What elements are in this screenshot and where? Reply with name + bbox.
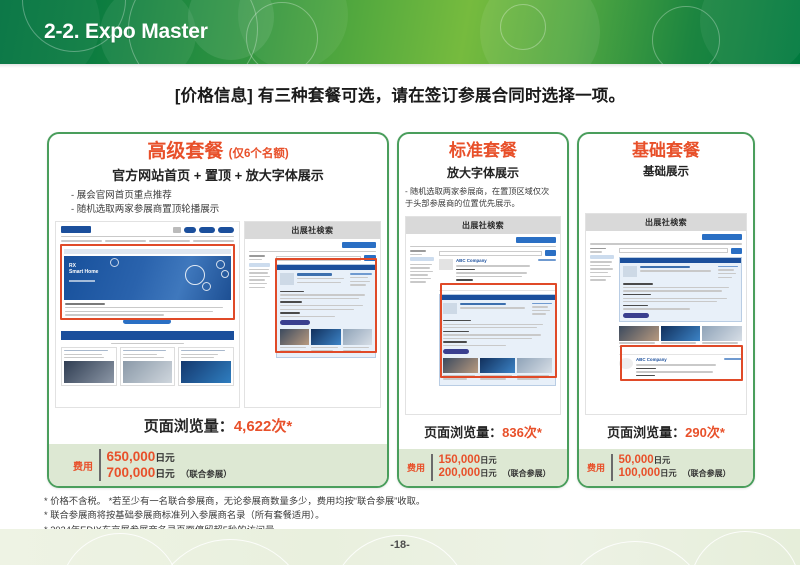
fee-primary-row: 650,000日元 bbox=[107, 449, 232, 465]
package-quantity-note: (仅6个名额) bbox=[229, 148, 289, 160]
header-decor-ring-4 bbox=[500, 4, 546, 50]
fee-divider bbox=[611, 454, 613, 481]
screenshot-group-standard: 出展社検索 bbox=[399, 210, 567, 415]
package-bullet: - 展会官网首页重点推荐 bbox=[71, 189, 387, 203]
screenshot-exhibitor-search-mock[interactable]: 出展社検索 bbox=[244, 221, 381, 408]
fee-bar-premium: 费用 650,000日元 700,000日元 （联合参展） bbox=[49, 444, 387, 486]
footnote-line: * 价格不含税。 *若至少有一名联合参展商，无论参展商数量多少，费用均按“联合参… bbox=[44, 494, 764, 508]
package-card-premium[interactable]: 高级套餐 (仅6个名额) 官方网站首页 + 置顶 + 放大字体展示 - 展会官网… bbox=[47, 132, 389, 488]
fee-joint-note: （联合参展） bbox=[181, 469, 232, 479]
slide-header-band: 2-2. Expo Master bbox=[0, 0, 800, 64]
package-card-basic[interactable]: 基础套餐 基础展示 出展社検索 bbox=[577, 132, 755, 488]
package-title-standard: 标准套餐 bbox=[399, 142, 567, 161]
package-bullets-premium: - 展会官网首页重点推荐 - 随机选取两家参展商置顶轮播展示 bbox=[49, 189, 387, 217]
fee-primary-row: 50,000日元 bbox=[619, 454, 731, 468]
screenshot-group-premium: RX Smart Home bbox=[49, 217, 387, 408]
fee-divider bbox=[431, 454, 433, 481]
mock-header-label: 出展社検索 bbox=[245, 222, 380, 239]
views-row-premium: 页面浏览量：4,622次* bbox=[49, 408, 387, 444]
package-subtitle-standard: 放大字体展示 bbox=[399, 166, 567, 180]
fee-currency: 日元 bbox=[660, 469, 677, 479]
views-value: 4,622次* bbox=[234, 418, 292, 435]
package-title-basic: 基础套餐 bbox=[579, 142, 753, 161]
views-label: 页面浏览量： bbox=[607, 425, 685, 440]
mock-company-name: ABC Company bbox=[456, 259, 535, 263]
mock-header-label: 出展社検索 bbox=[406, 217, 560, 234]
package-subtitle-premium: 官方网站首页 + 置顶 + 放大字体展示 bbox=[49, 168, 387, 184]
mock-company-name: ABC Company bbox=[636, 358, 721, 362]
package-bullet: 于头部参展商的位置优先展示。 bbox=[405, 198, 561, 210]
fee-primary-amount: 50,000 bbox=[619, 454, 654, 466]
fee-bar-basic: 费用 50,000日元 100,000日元 （联合参展） bbox=[579, 449, 753, 486]
screenshot-group-basic: 出展社検索 bbox=[579, 207, 753, 414]
fee-primary-row: 150,000日元 bbox=[439, 454, 551, 468]
package-title-premium: 高级套餐 (仅6个名额) bbox=[49, 142, 387, 163]
package-bullets-standard: - 随机选取两家参展商，在置顶区域仅次 于头部参展商的位置优先展示。 bbox=[399, 186, 567, 210]
fee-secondary-row: 700,000日元 （联合参展） bbox=[107, 465, 232, 481]
views-row-basic: 页面浏览量：290次* bbox=[579, 415, 753, 449]
fee-values: 50,000日元 100,000日元 （联合参展） bbox=[619, 454, 731, 481]
fee-divider bbox=[99, 449, 101, 481]
fee-joint-note: （联合参展） bbox=[503, 469, 551, 478]
views-value: 290次* bbox=[685, 425, 725, 440]
fee-currency: 日元 bbox=[155, 469, 174, 480]
fee-bar-standard: 费用 150,000日元 200,000日元 （联合参展） bbox=[399, 449, 567, 486]
fee-values: 650,000日元 700,000日元 （联合参展） bbox=[107, 449, 232, 481]
views-label: 页面浏览量： bbox=[424, 425, 502, 440]
fee-label: 费用 bbox=[57, 458, 93, 473]
views-value: 836次* bbox=[502, 425, 542, 440]
header-decor-ring-3 bbox=[246, 2, 318, 64]
package-subtitle-basic: 基础展示 bbox=[579, 166, 753, 180]
package-bullet: - 随机选取两家参展商置顶轮播展示 bbox=[71, 203, 387, 217]
package-card-standard[interactable]: 标准套餐 放大字体展示 - 随机选取两家参展商，在置顶区域仅次 于头部参展商的位… bbox=[397, 132, 569, 488]
fee-currency: 日元 bbox=[480, 469, 497, 479]
mock-brand-label: RX Smart Home bbox=[69, 263, 98, 276]
page-title: 2-2. Expo Master bbox=[44, 20, 208, 44]
slide-footer-band: -18- bbox=[0, 529, 800, 565]
fee-secondary-amount: 700,000 bbox=[107, 465, 156, 481]
fee-secondary-row: 200,000日元 （联合参展） bbox=[439, 467, 551, 481]
package-bullets-basic bbox=[579, 185, 753, 207]
lead-sentence: [价格信息] 有三种套餐可选，请在签订参展合同时选择一项。 bbox=[0, 82, 800, 106]
fee-secondary-row: 100,000日元 （联合参展） bbox=[619, 467, 731, 481]
fee-secondary-amount: 200,000 bbox=[439, 467, 481, 481]
page-number: -18- bbox=[0, 539, 800, 551]
footnote-line: * 联合参展商将按基础参展商标准列入参展商名录（所有套餐适用）。 bbox=[44, 508, 764, 522]
fee-currency: 日元 bbox=[480, 456, 497, 465]
fee-label: 费用 bbox=[587, 461, 605, 474]
header-dropshadow bbox=[0, 64, 800, 68]
screenshot-exhibitor-search-mock[interactable]: 出展社検索 bbox=[585, 213, 747, 414]
fee-label: 费用 bbox=[407, 461, 425, 474]
screenshot-homepage-mock[interactable]: RX Smart Home bbox=[55, 221, 240, 408]
slide-root: 2-2. Expo Master [价格信息] 有三种套餐可选，请在签订参展合同… bbox=[0, 0, 800, 565]
package-panels: 高级套餐 (仅6个名额) 官方网站首页 + 置顶 + 放大字体展示 - 展会官网… bbox=[47, 132, 755, 488]
mock-header-label: 出展社検索 bbox=[586, 214, 746, 231]
header-decor-circle-6 bbox=[700, 0, 800, 64]
views-label: 页面浏览量： bbox=[144, 418, 234, 435]
fee-secondary-amount: 100,000 bbox=[619, 467, 661, 481]
fee-currency: 日元 bbox=[155, 453, 174, 464]
fee-values: 150,000日元 200,000日元 （联合参展） bbox=[439, 454, 551, 481]
fee-currency: 日元 bbox=[654, 456, 671, 465]
fee-joint-note: （联合参展） bbox=[683, 469, 731, 478]
fee-primary-amount: 650,000 bbox=[107, 449, 156, 464]
package-bullet: - 随机选取两家参展商，在置顶区域仅次 bbox=[405, 186, 561, 198]
views-row-standard: 页面浏览量：836次* bbox=[399, 415, 567, 449]
fee-primary-amount: 150,000 bbox=[439, 454, 481, 466]
package-title-text: 高级套餐 bbox=[147, 141, 223, 162]
screenshot-exhibitor-search-mock[interactable]: 出展社検索 bbox=[405, 216, 561, 415]
